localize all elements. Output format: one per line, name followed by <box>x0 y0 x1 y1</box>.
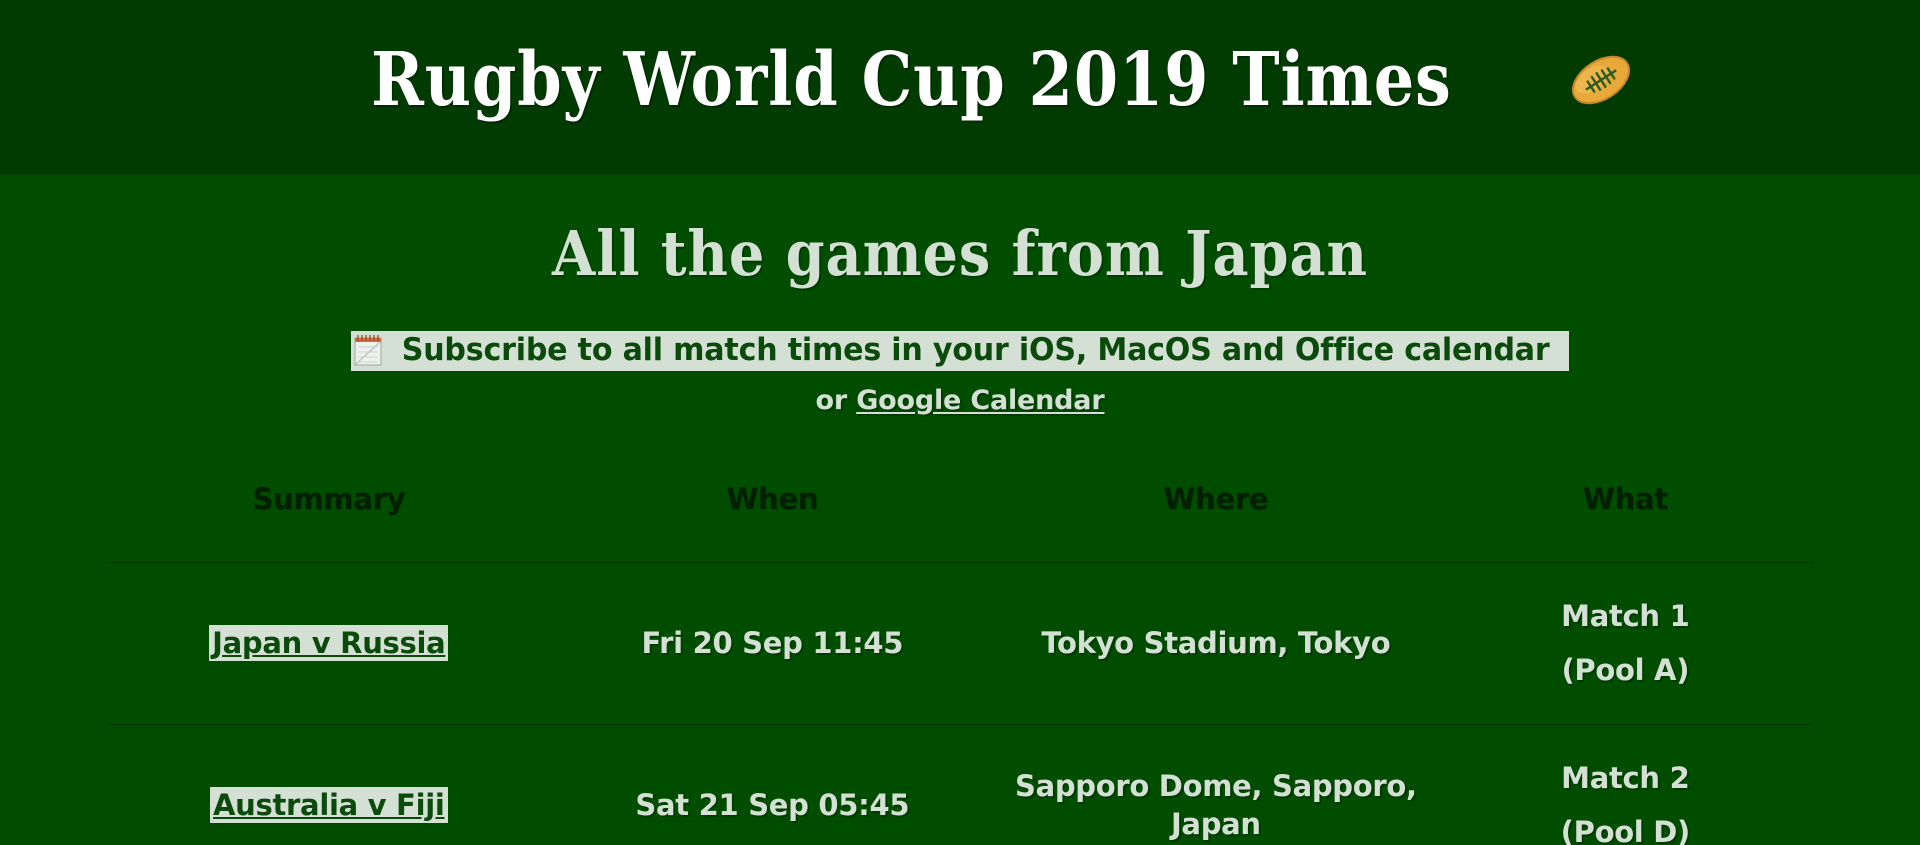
page-body: All the games from Japan Subscribe to <box>0 175 1920 845</box>
cell-what: Match 2 (Pool D) <box>1438 724 1813 845</box>
cell-summary: Australia v Fiji <box>107 724 551 845</box>
cell-where: Tokyo Stadium, Tokyo <box>994 563 1438 725</box>
match-summary-link[interactable]: Australia v Fiji <box>210 787 447 823</box>
subscribe-block: Subscribe to all match times in your iOS… <box>0 285 1920 371</box>
subscribe-link-row[interactable]: Subscribe to all match times in your iOS… <box>351 331 1569 371</box>
match-summary-link[interactable]: Japan v Russia <box>209 625 448 661</box>
table-header: Summary When Where What <box>107 468 1813 563</box>
cell-summary: Japan v Russia <box>107 563 551 725</box>
site-header: Rugby World Cup 2019 Times <box>0 0 1920 175</box>
column-header-summary: Summary <box>107 468 551 563</box>
cell-when: Fri 20 Sep 11:45 <box>551 563 995 725</box>
column-header-when: When <box>551 468 995 563</box>
column-header-where: Where <box>994 468 1438 563</box>
google-calendar-line: or Google Calendar <box>0 371 1920 416</box>
page-title: Rugby World Cup 2019 Times <box>371 43 1452 117</box>
cell-what: Match 1 (Pool A) <box>1438 563 1813 725</box>
site-title-wrap: Rugby World Cup 2019 Times <box>283 43 1638 117</box>
table-row: Japan v Russia Fri 20 Sep 11:45 Tokyo St… <box>107 563 1813 725</box>
table-row: Australia v Fiji Sat 21 Sep 05:45 Sappor… <box>107 724 1813 845</box>
cell-where: Sapporo Dome, Sapporo, Japan <box>994 724 1438 845</box>
or-prefix-label: or <box>816 385 857 416</box>
match-number-label: Match 1 <box>1448 597 1803 635</box>
match-number-label: Match 2 <box>1448 759 1803 797</box>
rugby-ball-icon <box>1565 44 1637 116</box>
table-body: Japan v Russia Fri 20 Sep 11:45 Tokyo St… <box>107 563 1813 845</box>
match-pool-label: (Pool D) <box>1448 813 1803 845</box>
google-calendar-link[interactable]: Google Calendar <box>856 385 1104 416</box>
subscribe-calendar-link[interactable]: Subscribe to all match times in your iOS… <box>402 335 1550 366</box>
match-pool-label: (Pool A) <box>1448 651 1803 689</box>
match-times-table: Summary When Where What Japan v Russia F… <box>107 468 1813 845</box>
table-header-row: Summary When Where What <box>107 468 1813 563</box>
column-header-what: What <box>1438 468 1813 563</box>
notepad-icon <box>353 333 383 367</box>
page-subtitle: All the games from Japan <box>96 175 1824 285</box>
cell-when: Sat 21 Sep 05:45 <box>551 724 995 845</box>
